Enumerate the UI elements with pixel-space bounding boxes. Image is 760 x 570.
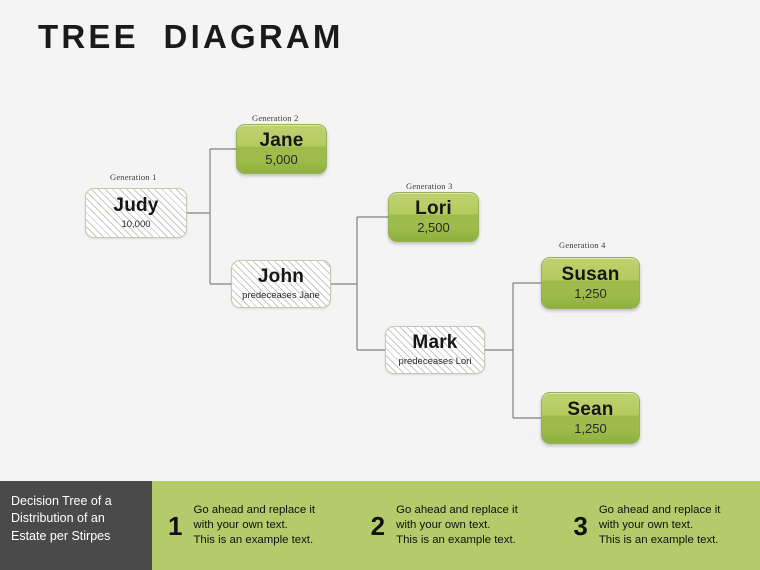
node-name-john: John xyxy=(258,267,304,287)
tree-node-mark[interactable]: Markpredeceases Lori xyxy=(385,326,485,374)
footer-item-1: 1Go ahead and replace it with your own t… xyxy=(152,503,355,548)
node-sub-john: predeceases Jane xyxy=(242,291,320,301)
node-sub-susan: 1,250 xyxy=(574,287,607,301)
footer-item-text-1: Go ahead and replace it with your own te… xyxy=(193,503,315,548)
footer-title: Decision Tree of a Distribution of an Es… xyxy=(0,481,152,570)
slide-canvas: TREE DIAGRAM Generation 1Generation 2Gen… xyxy=(0,0,760,570)
footer-item-text-2: Go ahead and replace it with your own te… xyxy=(396,503,518,548)
generation-label-2: Generation 2 xyxy=(252,113,299,123)
node-sub-jane: 5,000 xyxy=(265,153,298,167)
node-name-judy: Judy xyxy=(113,196,158,216)
footer-items: 1Go ahead and replace it with your own t… xyxy=(152,481,760,570)
footer-item-text-3: Go ahead and replace it with your own te… xyxy=(599,503,721,548)
tree-node-susan[interactable]: Susan1,250 xyxy=(541,257,640,309)
tree-node-jane[interactable]: Jane5,000 xyxy=(236,124,327,174)
node-name-sean: Sean xyxy=(567,400,613,420)
footer-bar: Decision Tree of a Distribution of an Es… xyxy=(0,481,760,570)
node-sub-sean: 1,250 xyxy=(574,422,607,436)
node-sub-lori: 2,500 xyxy=(417,221,450,235)
tree-node-sean[interactable]: Sean1,250 xyxy=(541,392,640,444)
tree-node-john[interactable]: Johnpredeceases Jane xyxy=(231,260,331,308)
connector-john xyxy=(331,217,388,350)
node-name-mark: Mark xyxy=(412,333,457,353)
node-sub-mark: predeceases Lori xyxy=(399,357,472,367)
footer-item-number-3: 3 xyxy=(573,513,587,539)
node-name-susan: Susan xyxy=(561,265,619,285)
connector-mark xyxy=(485,283,541,418)
footer-item-2: 2Go ahead and replace it with your own t… xyxy=(355,503,558,548)
footer-item-3: 3Go ahead and replace it with your own t… xyxy=(557,503,760,548)
tree-node-lori[interactable]: Lori2,500 xyxy=(388,192,479,242)
node-name-jane: Jane xyxy=(259,131,303,151)
tree-diagram: Generation 1Generation 2Generation 3Gene… xyxy=(0,0,760,470)
footer-item-number-1: 1 xyxy=(168,513,182,539)
generation-label-1: Generation 1 xyxy=(110,172,157,182)
generation-label-3: Generation 3 xyxy=(406,181,453,191)
node-sub-judy: 10,000 xyxy=(121,220,150,230)
generation-label-4: Generation 4 xyxy=(559,240,606,250)
tree-node-judy[interactable]: Judy10,000 xyxy=(85,188,187,238)
footer-item-number-2: 2 xyxy=(371,513,385,539)
connector-judy xyxy=(187,149,236,284)
node-name-lori: Lori xyxy=(415,199,452,219)
